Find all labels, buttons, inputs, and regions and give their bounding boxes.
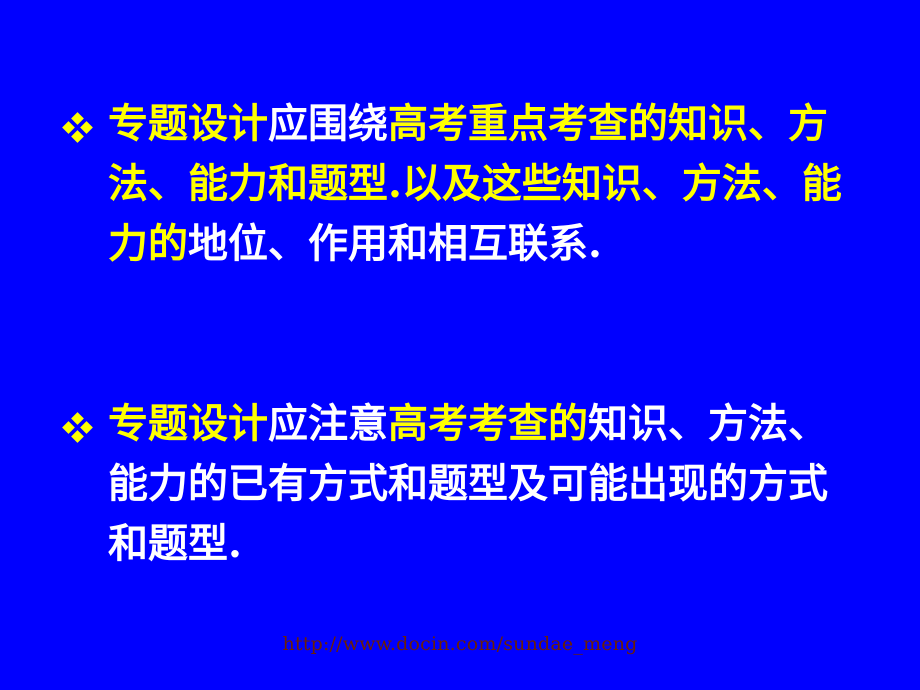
bullet-1-run-2: 应围绕 (268, 100, 388, 147)
bullet-1-run-1: 专题设计 (108, 100, 268, 147)
bullet-block-2: 专题设计应注意高考考查的知识、方法、能力的已有方式和题型及可能出现的方式和题型. (62, 394, 862, 574)
slide-canvas: 专题设计应围绕高考重点考查的知识、方法、能力和题型.以及这些知识、方法、能力的地… (0, 0, 920, 690)
footer-watermark-url: http://www.docin.com/sundae_meng (0, 632, 920, 656)
bullet-2-run-1: 专题设计 (108, 400, 268, 447)
diamond-cluster-bullet-icon (64, 414, 92, 442)
bullet-2-run-3: 高考考查的 (388, 400, 588, 447)
bullet-1-text: 专题设计应围绕高考重点考查的知识、方法、能力和题型.以及这些知识、方法、能力的地… (62, 94, 862, 274)
bullet-2-text: 专题设计应注意高考考查的知识、方法、能力的已有方式和题型及可能出现的方式和题型. (62, 394, 862, 574)
bullet-1-run-4: 地位、作用和相互联系. (188, 220, 602, 267)
diamond-cluster-bullet-icon (64, 114, 92, 142)
bullet-2-run-2: 应注意 (268, 400, 388, 447)
bullet-block-1: 专题设计应围绕高考重点考查的知识、方法、能力和题型.以及这些知识、方法、能力的地… (62, 94, 862, 274)
